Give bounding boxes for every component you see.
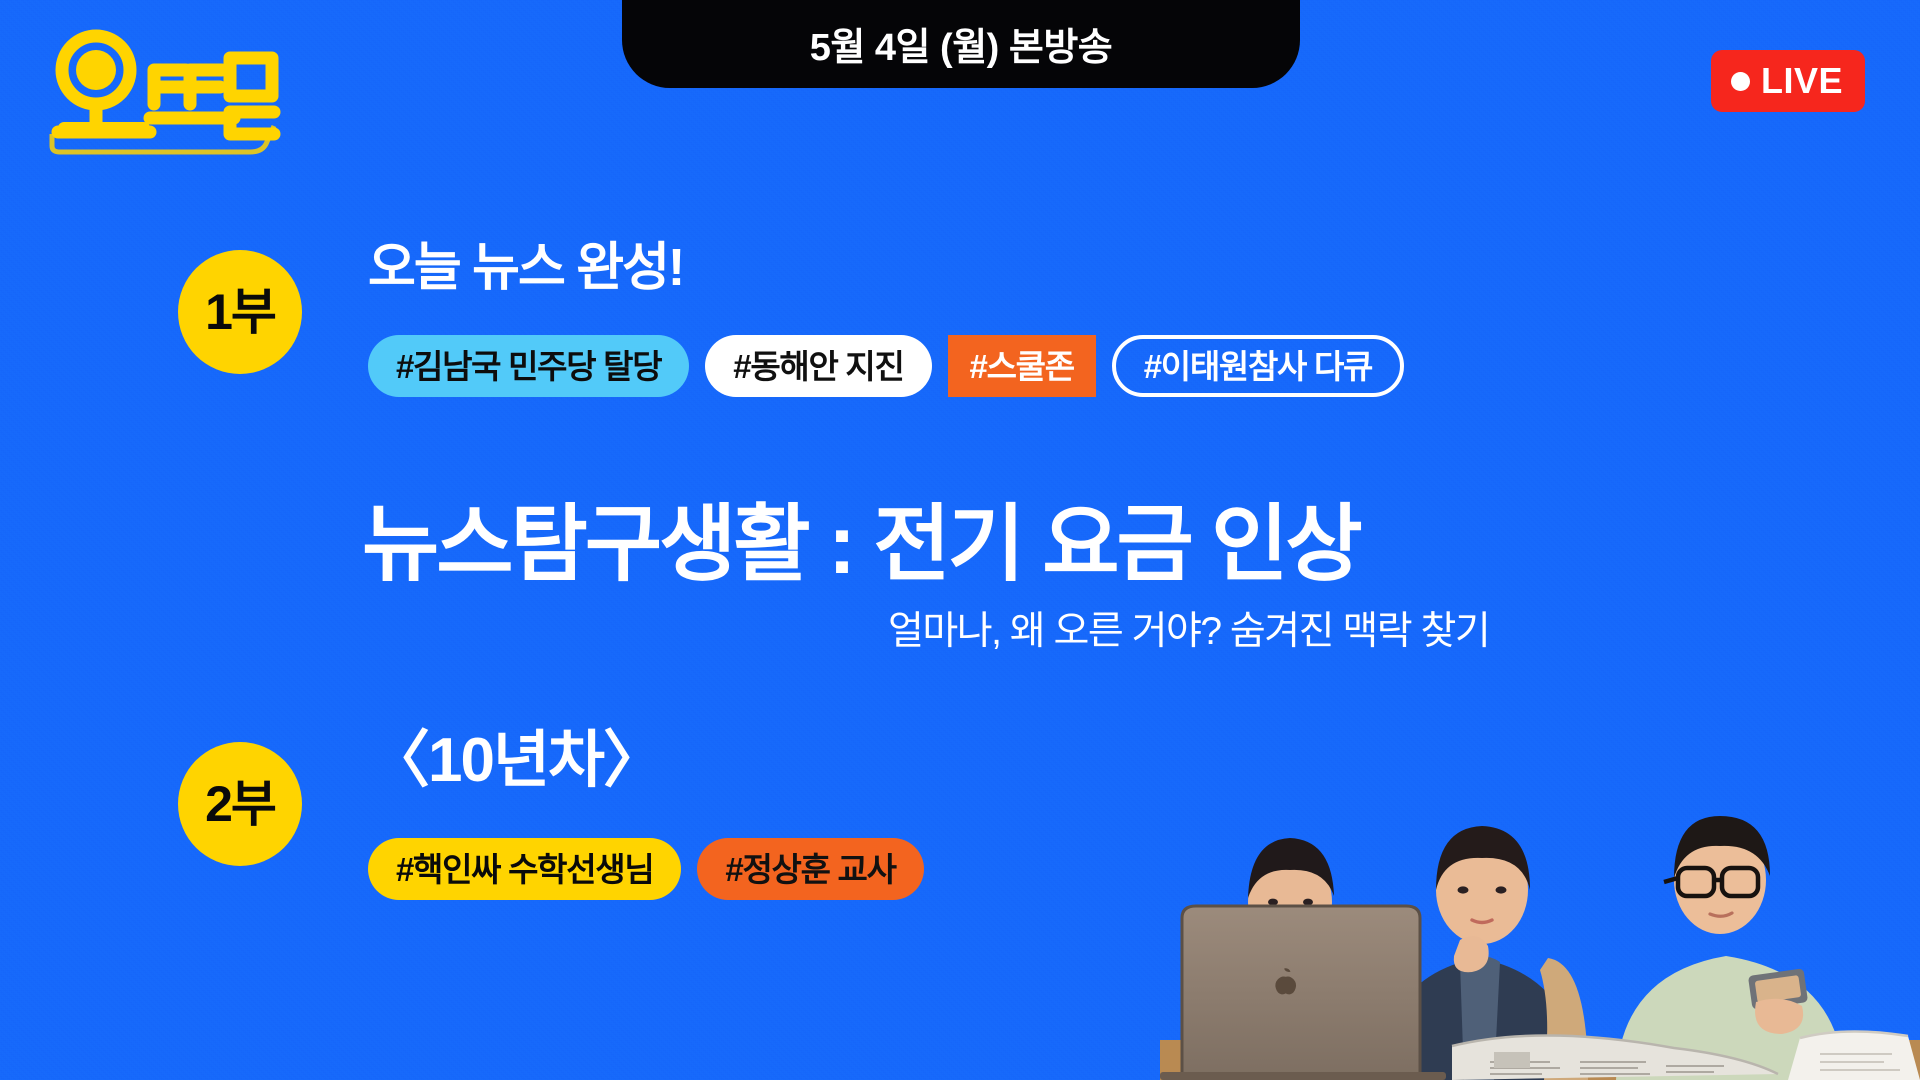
date-banner-text: 5월 4일 (월) 본방송 — [810, 16, 1113, 71]
paper-sheets — [1788, 1031, 1920, 1080]
ottmil-wordmark-logo[interactable] — [34, 22, 284, 162]
part-badge-2: 2부 — [178, 742, 302, 866]
broadcast-preview-card: 5월 4일 (월) 본방송 LIVE 1부 오늘 뉴스 완성! #김남국 민주당… — [0, 0, 1920, 1080]
part-badge-1: 1부 — [178, 250, 302, 374]
section-2-title: 〈10년차〉 — [368, 730, 663, 792]
date-banner: 5월 4일 (월) 본방송 — [622, 0, 1300, 88]
tag-math-teacher[interactable]: #핵인싸 수학선생님 — [368, 838, 681, 900]
part-badge-2-label: 2부 — [205, 779, 275, 829]
live-badge[interactable]: LIVE — [1711, 50, 1865, 112]
tag-jeongsanghun[interactable]: #정상훈 교사 — [697, 838, 923, 900]
laptop — [1160, 906, 1446, 1080]
tag-schoolzone[interactable]: #스쿨존 — [948, 335, 1096, 397]
section-1-title: 오늘 뉴스 완성! — [368, 242, 683, 294]
tag-donghaean-quake[interactable]: #동해안 지진 — [705, 335, 931, 397]
feature-title: 뉴스탐구생활 : 전기 요금 인상 — [362, 502, 1360, 586]
section-2-tag-row: #핵인싸 수학선생님 #정상훈 교사 — [368, 838, 924, 900]
part-badge-1-label: 1부 — [205, 287, 275, 337]
hosts-photo — [1160, 690, 1920, 1080]
live-dot-icon — [1731, 72, 1750, 91]
tag-itaewon-docu[interactable]: #이태원참사 다큐 — [1112, 335, 1404, 397]
live-badge-label: LIVE — [1761, 63, 1843, 99]
feature-subtitle: 얼마나, 왜 오른 거야? 숨겨진 맥락 찾기 — [888, 612, 1489, 651]
section-1-tag-row: #김남국 민주당 탈당 #동해안 지진 #스쿨존 #이태원참사 다큐 — [368, 335, 1404, 397]
tag-kimnamguk[interactable]: #김남국 민주당 탈당 — [368, 335, 689, 397]
